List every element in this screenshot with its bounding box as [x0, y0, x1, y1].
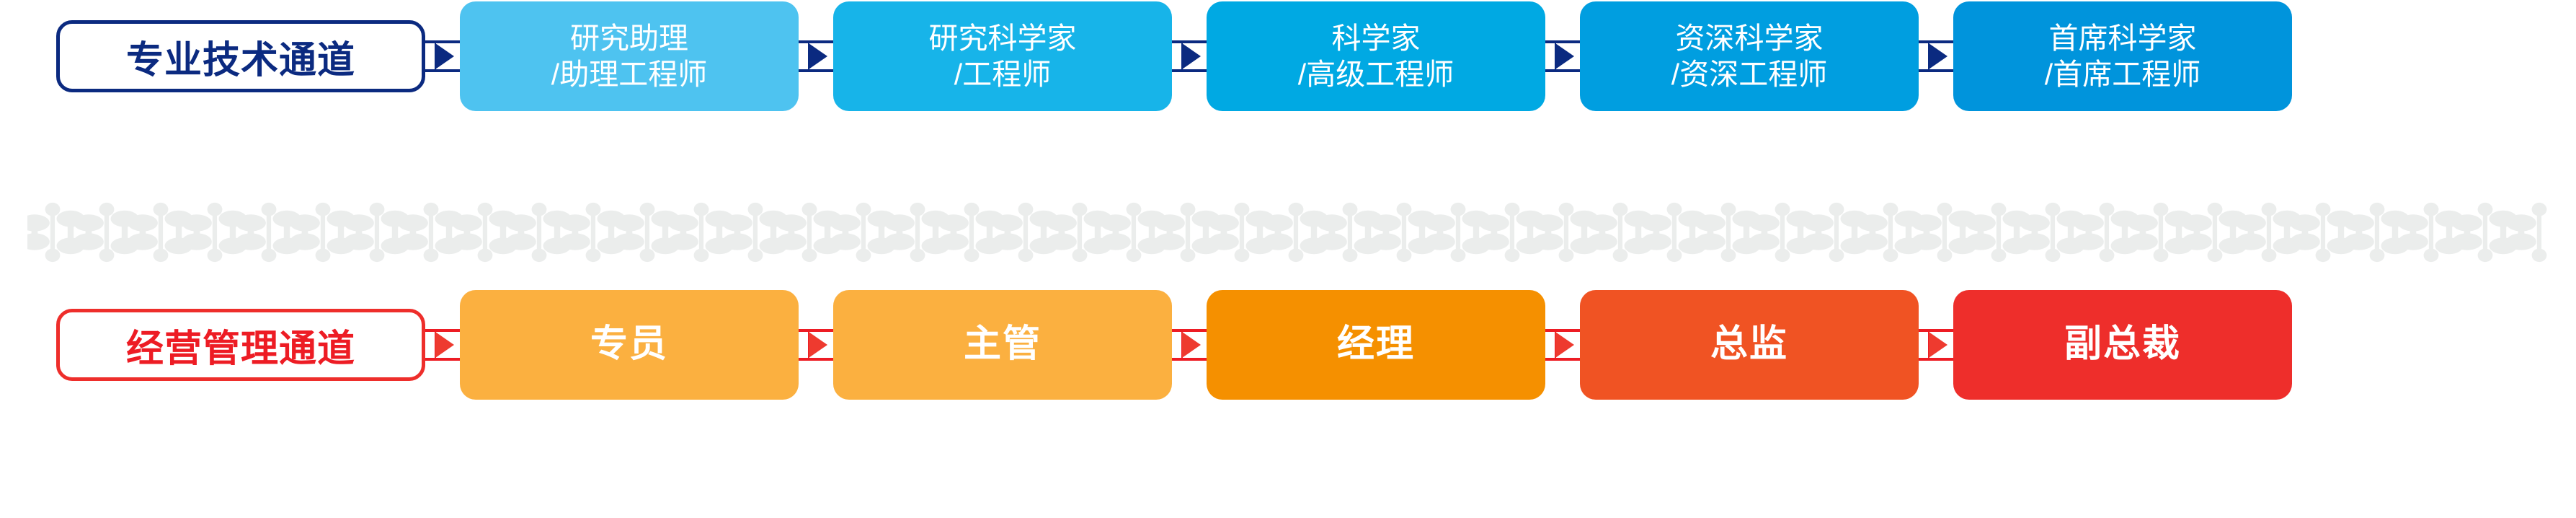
- stage-tech-5[interactable]: 首席科学家 /首席工程师: [1953, 1, 2292, 111]
- dna-double-helix-icon: [27, 189, 2550, 276]
- arrow-connector-mgmt-0: [422, 329, 463, 361]
- technical-track-row: 专业技术通道 研究助理 /助理工程师 研究科学家 /工程师: [0, 13, 2576, 100]
- arrow-band-bottom: [1916, 358, 1956, 361]
- stage-mgmt-4[interactable]: 总监: [1580, 290, 1919, 400]
- stage-tech-3-line1: 科学家: [1332, 20, 1421, 56]
- stage-tech-2-line2: /工程师: [954, 56, 1051, 92]
- arrow-right-icon: [435, 332, 454, 358]
- track-label-technical-text: 专业技术通道: [126, 30, 355, 84]
- stage-mgmt-5[interactable]: 副总裁: [1953, 290, 2292, 400]
- arrow-band-bottom: [1169, 69, 1209, 72]
- arrow-right-icon: [1929, 332, 1947, 358]
- career-ladder-diagram: 专业技术通道 研究助理 /助理工程师 研究科学家 /工程师: [0, 0, 2576, 518]
- arrow-connector-mgmt-4: [1916, 329, 1956, 361]
- arrow-connector-mgmt-1: [796, 329, 836, 361]
- arrow-right-icon: [809, 332, 827, 358]
- track-label-management[interactable]: 经营管理通道: [56, 309, 425, 381]
- arrow-connector-tech-2: [1169, 40, 1209, 72]
- arrow-band-bottom: [1169, 358, 1209, 361]
- stage-tech-4-line2: /资深工程师: [1671, 56, 1827, 92]
- arrow-band-bottom: [422, 358, 463, 361]
- stage-mgmt-2[interactable]: 主管: [833, 290, 1172, 400]
- arrow-connector-tech-1: [796, 40, 836, 72]
- arrow-right-icon: [1182, 332, 1201, 358]
- arrow-connector-mgmt-3: [1542, 329, 1583, 361]
- stage-tech-5-line1: 首席科学家: [2049, 20, 2197, 56]
- stage-tech-3[interactable]: 科学家 /高级工程师: [1207, 1, 1545, 111]
- stage-tech-1-line1: 研究助理: [570, 20, 688, 56]
- stage-tech-4-line1: 资深科学家: [1676, 20, 1824, 56]
- stage-tech-2[interactable]: 研究科学家 /工程师: [833, 1, 1172, 111]
- arrow-right-icon: [809, 43, 827, 69]
- stage-mgmt-4-line1: 总监: [1710, 322, 1788, 367]
- arrow-band-bottom: [796, 69, 836, 72]
- stage-tech-1-line2: /助理工程师: [551, 56, 707, 92]
- stage-mgmt-3[interactable]: 经理: [1207, 290, 1545, 400]
- stage-mgmt-2-line1: 主管: [964, 322, 1041, 367]
- arrow-band-bottom: [1542, 358, 1583, 361]
- stage-tech-3-line2: /高级工程师: [1298, 56, 1454, 92]
- arrow-right-icon: [1555, 332, 1574, 358]
- arrow-connector-mgmt-2: [1169, 329, 1209, 361]
- stage-tech-2-line1: 研究科学家: [929, 20, 1077, 56]
- arrow-right-icon: [1182, 43, 1201, 69]
- stage-mgmt-1[interactable]: 专员: [460, 290, 799, 400]
- arrow-right-icon: [1929, 43, 1947, 69]
- arrow-band-bottom: [422, 69, 463, 72]
- arrow-band-bottom: [1916, 69, 1956, 72]
- stage-tech-1[interactable]: 研究助理 /助理工程师: [460, 1, 799, 111]
- arrow-right-icon: [1555, 43, 1574, 69]
- management-track-row: 经营管理通道 专员 主管 经理: [0, 302, 2576, 388]
- stage-mgmt-3-line1: 经理: [1337, 322, 1415, 367]
- arrow-connector-tech-0: [422, 40, 463, 72]
- track-label-technical[interactable]: 专业技术通道: [56, 20, 425, 92]
- stage-tech-5-line2: /首席工程师: [2045, 56, 2200, 92]
- arrow-connector-tech-3: [1542, 40, 1583, 72]
- stage-tech-4[interactable]: 资深科学家 /资深工程师: [1580, 1, 1919, 111]
- arrow-connector-tech-4: [1916, 40, 1956, 72]
- arrow-band-bottom: [796, 358, 836, 361]
- track-label-management-text: 经营管理通道: [126, 318, 355, 372]
- arrow-band-bottom: [1542, 69, 1583, 72]
- arrow-right-icon: [435, 43, 454, 69]
- stage-mgmt-1-line1: 专员: [590, 322, 668, 367]
- stage-mgmt-5-line1: 副总裁: [2064, 322, 2181, 367]
